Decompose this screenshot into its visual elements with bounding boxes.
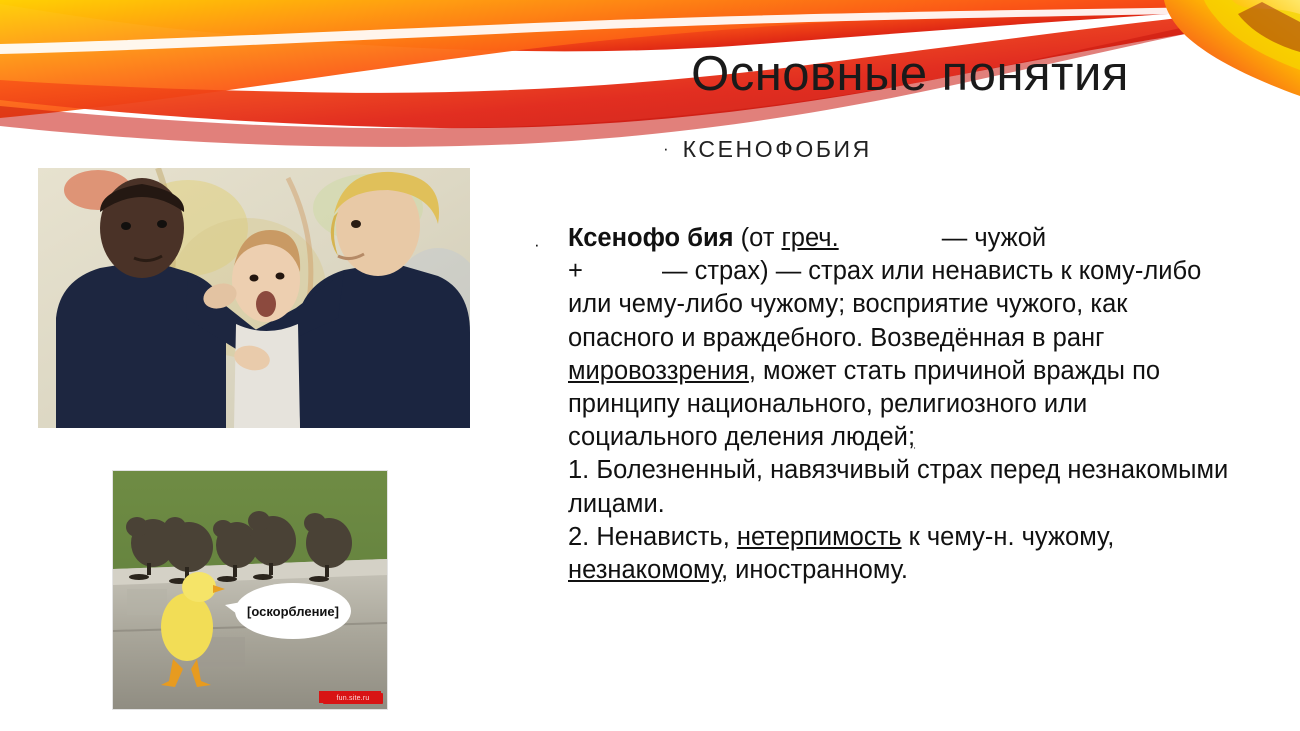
translation-fear: — страх) (655, 257, 776, 285)
bullet-marker-icon: · (663, 139, 669, 159)
definition-item-2-prefix: 2. Ненависть, (568, 523, 737, 551)
semicolon-link[interactable]: ; (908, 423, 915, 451)
greek-source-link[interactable]: греч. (781, 224, 838, 252)
intolerance-link[interactable]: нетерпимость (737, 523, 902, 551)
translation-foreign: — чужой (935, 224, 1046, 252)
photo-teen-confrontation (38, 168, 470, 428)
speech-bubble-text: [оскорбление] (247, 604, 339, 619)
photo-ducklings-meme: [оскорбление] fun.site.ru (112, 470, 388, 710)
presentation-slide: Основные понятия ·КСЕНОФОБИЯ · Ксенофо б… (0, 0, 1300, 731)
photo-watermark-badge: fun.site.ru (323, 693, 383, 704)
stranger-link[interactable]: незнакомому (568, 556, 721, 584)
slide-title: Основные понятия (560, 48, 1260, 101)
definition-item-1: 1. Болезненный, навязчивый страх перед н… (568, 456, 1235, 517)
definition-item-2-suffix: , иностранному. (721, 556, 908, 584)
definition-body-block: · Ксенофо бия (от греч. — чужой + — стра… (534, 222, 1234, 587)
subtitle-bullet-xenophobia: ·КСЕНОФОБИЯ (663, 136, 872, 163)
bullet-marker-icon: · (534, 228, 540, 261)
definition-text: Ксенофо бия (от греч. — чужой + — страх)… (568, 222, 1234, 587)
subtitle-bullet-label: КСЕНОФОБИЯ (683, 136, 872, 162)
definition-item-2-middle: к чему-н. чужому, (902, 523, 1122, 551)
plus-sign: + (568, 257, 583, 285)
worldview-link[interactable]: мировоззрения (568, 357, 749, 385)
term-xenophobia: Ксенофо бия (568, 224, 734, 252)
paren-open: (от (734, 224, 782, 252)
